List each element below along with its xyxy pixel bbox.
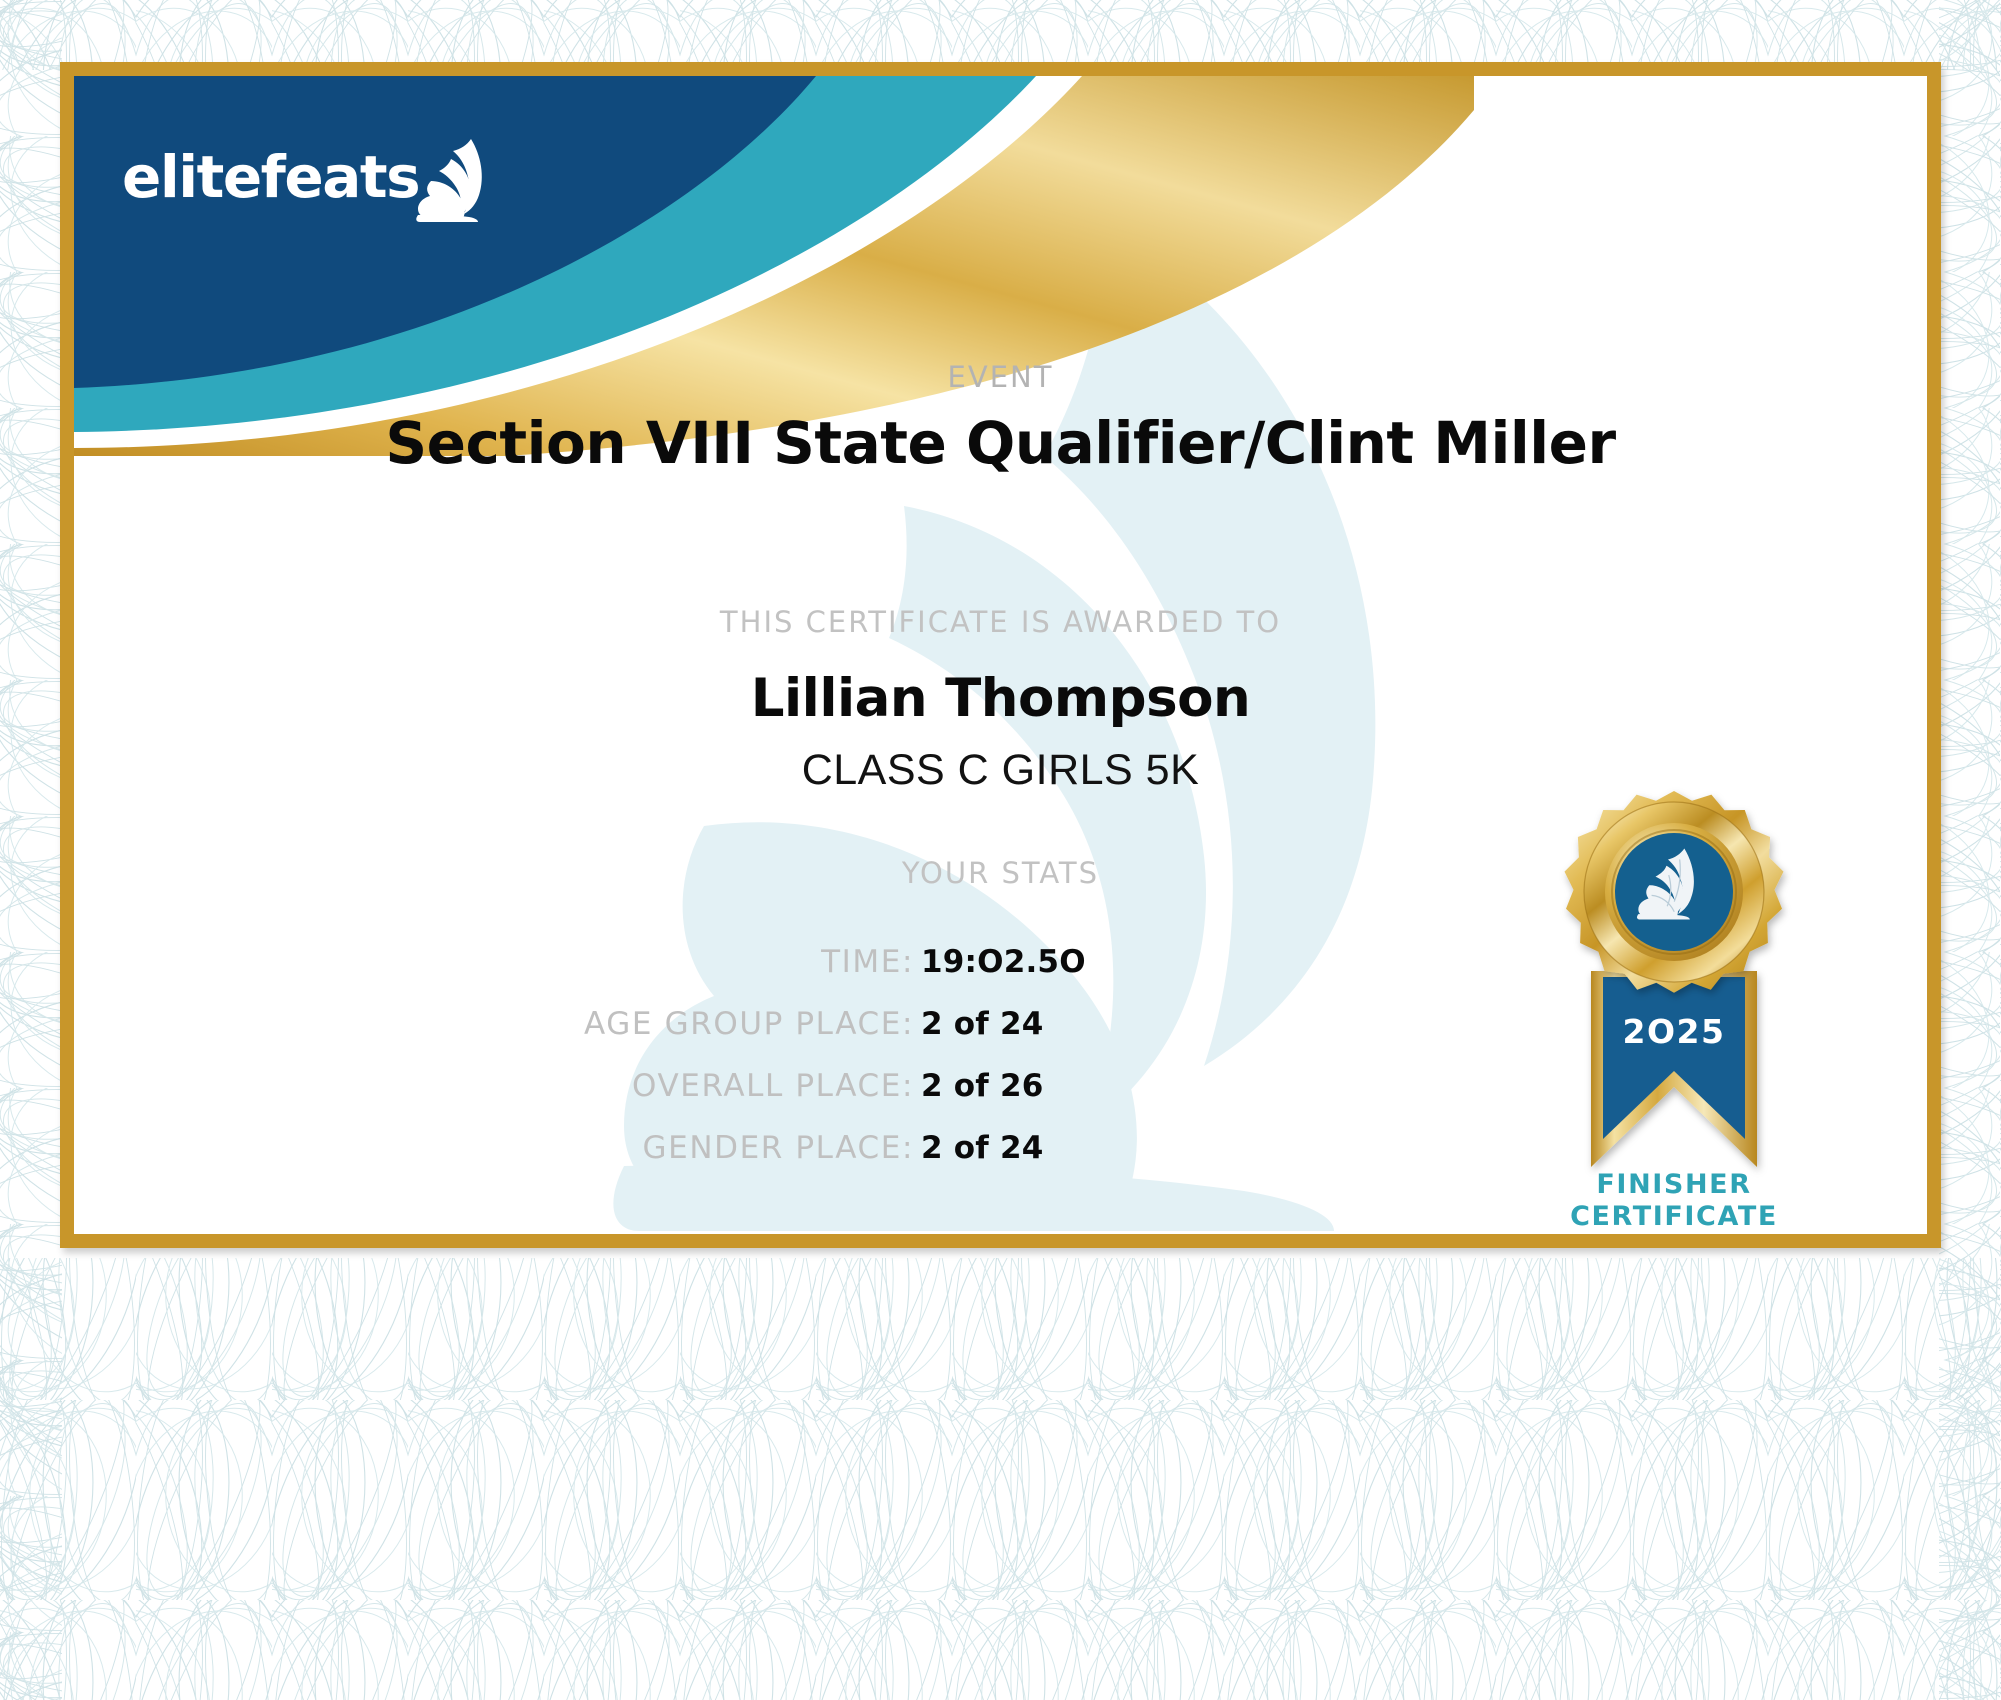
stat-row: AGE GROUP PLACE:2 of 24 xyxy=(74,1006,914,1042)
certificate-frame: elitefeats EVENT Section VIII State Qual… xyxy=(60,62,1941,1248)
seal-year: 2O25 xyxy=(1623,1012,1726,1051)
seal-caption: FINISHER CERTIFICATE xyxy=(1509,1169,1839,1233)
finisher-medal-seal: 2O25 xyxy=(1529,781,1819,1234)
awarded-to-label: THIS CERTIFICATE IS AWARDED TO xyxy=(74,605,1927,639)
stat-label: TIME: xyxy=(821,944,914,980)
stat-value: 2 of 24 xyxy=(921,1130,1043,1166)
stat-row: TIME:19:O2.5O xyxy=(74,944,914,980)
stat-row: GENDER PLACE:2 of 24 xyxy=(74,1130,914,1166)
event-label: EVENT xyxy=(74,360,1927,394)
stat-label: OVERALL PLACE: xyxy=(632,1068,914,1104)
certificate-body: elitefeats EVENT Section VIII State Qual… xyxy=(74,76,1927,1234)
event-title: Section VIII State Qualifier/Clint Mille… xyxy=(74,409,1927,477)
stat-value: 2 of 24 xyxy=(921,1006,1043,1042)
stat-label: AGE GROUP PLACE: xyxy=(584,1006,914,1042)
seal-caption-line-1: FINISHER xyxy=(1509,1169,1839,1201)
certificate-content: EVENT Section VIII State Qualifier/Clint… xyxy=(74,76,1927,1234)
stat-value: 19:O2.5O xyxy=(921,944,1086,980)
stat-value: 2 of 26 xyxy=(921,1068,1043,1104)
recipient-name: Lillian Thompson xyxy=(74,668,1927,729)
stat-row: OVERALL PLACE:2 of 26 xyxy=(74,1068,914,1104)
certificate-page: elitefeats EVENT Section VIII State Qual… xyxy=(0,0,2001,1700)
seal-caption-line-2: CERTIFICATE xyxy=(1509,1201,1839,1233)
stat-label: GENDER PLACE: xyxy=(643,1130,914,1166)
